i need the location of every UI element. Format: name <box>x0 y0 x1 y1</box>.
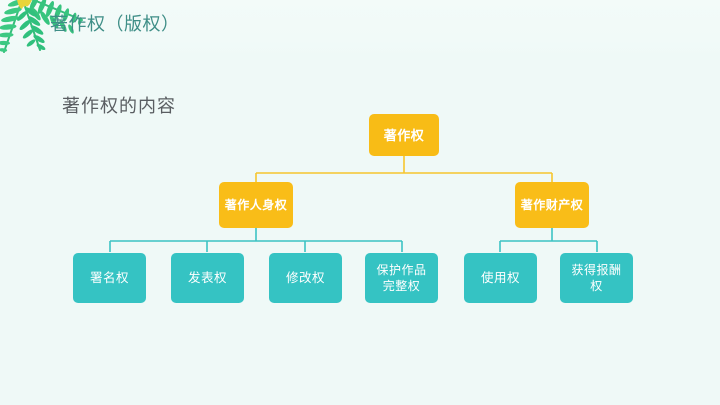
org-chart: 著作权 著作人身权 著作财产权 署名权 发表权 修改权 保护作品完整权 使用权 … <box>0 0 720 405</box>
node-leaf-shiyongquan[interactable]: 使用权 <box>464 253 537 303</box>
connector-level1-level2 <box>256 156 552 184</box>
connector-right-branch-leaves <box>500 228 597 252</box>
chart-connectors <box>0 0 720 405</box>
slide-canvas: 著作权（版权） 著作权的内容 <box>0 0 720 405</box>
node-leaf-baohuzuopinwanzhengquan[interactable]: 保护作品完整权 <box>365 253 438 303</box>
node-root[interactable]: 著作权 <box>369 114 439 156</box>
connector-left-branch-leaves <box>110 228 402 252</box>
node-branch-left[interactable]: 著作人身权 <box>219 182 293 228</box>
node-leaf-huodebaochouquan[interactable]: 获得报酬权 <box>560 253 633 303</box>
node-leaf-shumingquan[interactable]: 署名权 <box>73 253 146 303</box>
node-leaf-fabiaoquan[interactable]: 发表权 <box>171 253 244 303</box>
node-leaf-xiugaiquan[interactable]: 修改权 <box>269 253 342 303</box>
node-branch-right[interactable]: 著作财产权 <box>515 182 589 228</box>
